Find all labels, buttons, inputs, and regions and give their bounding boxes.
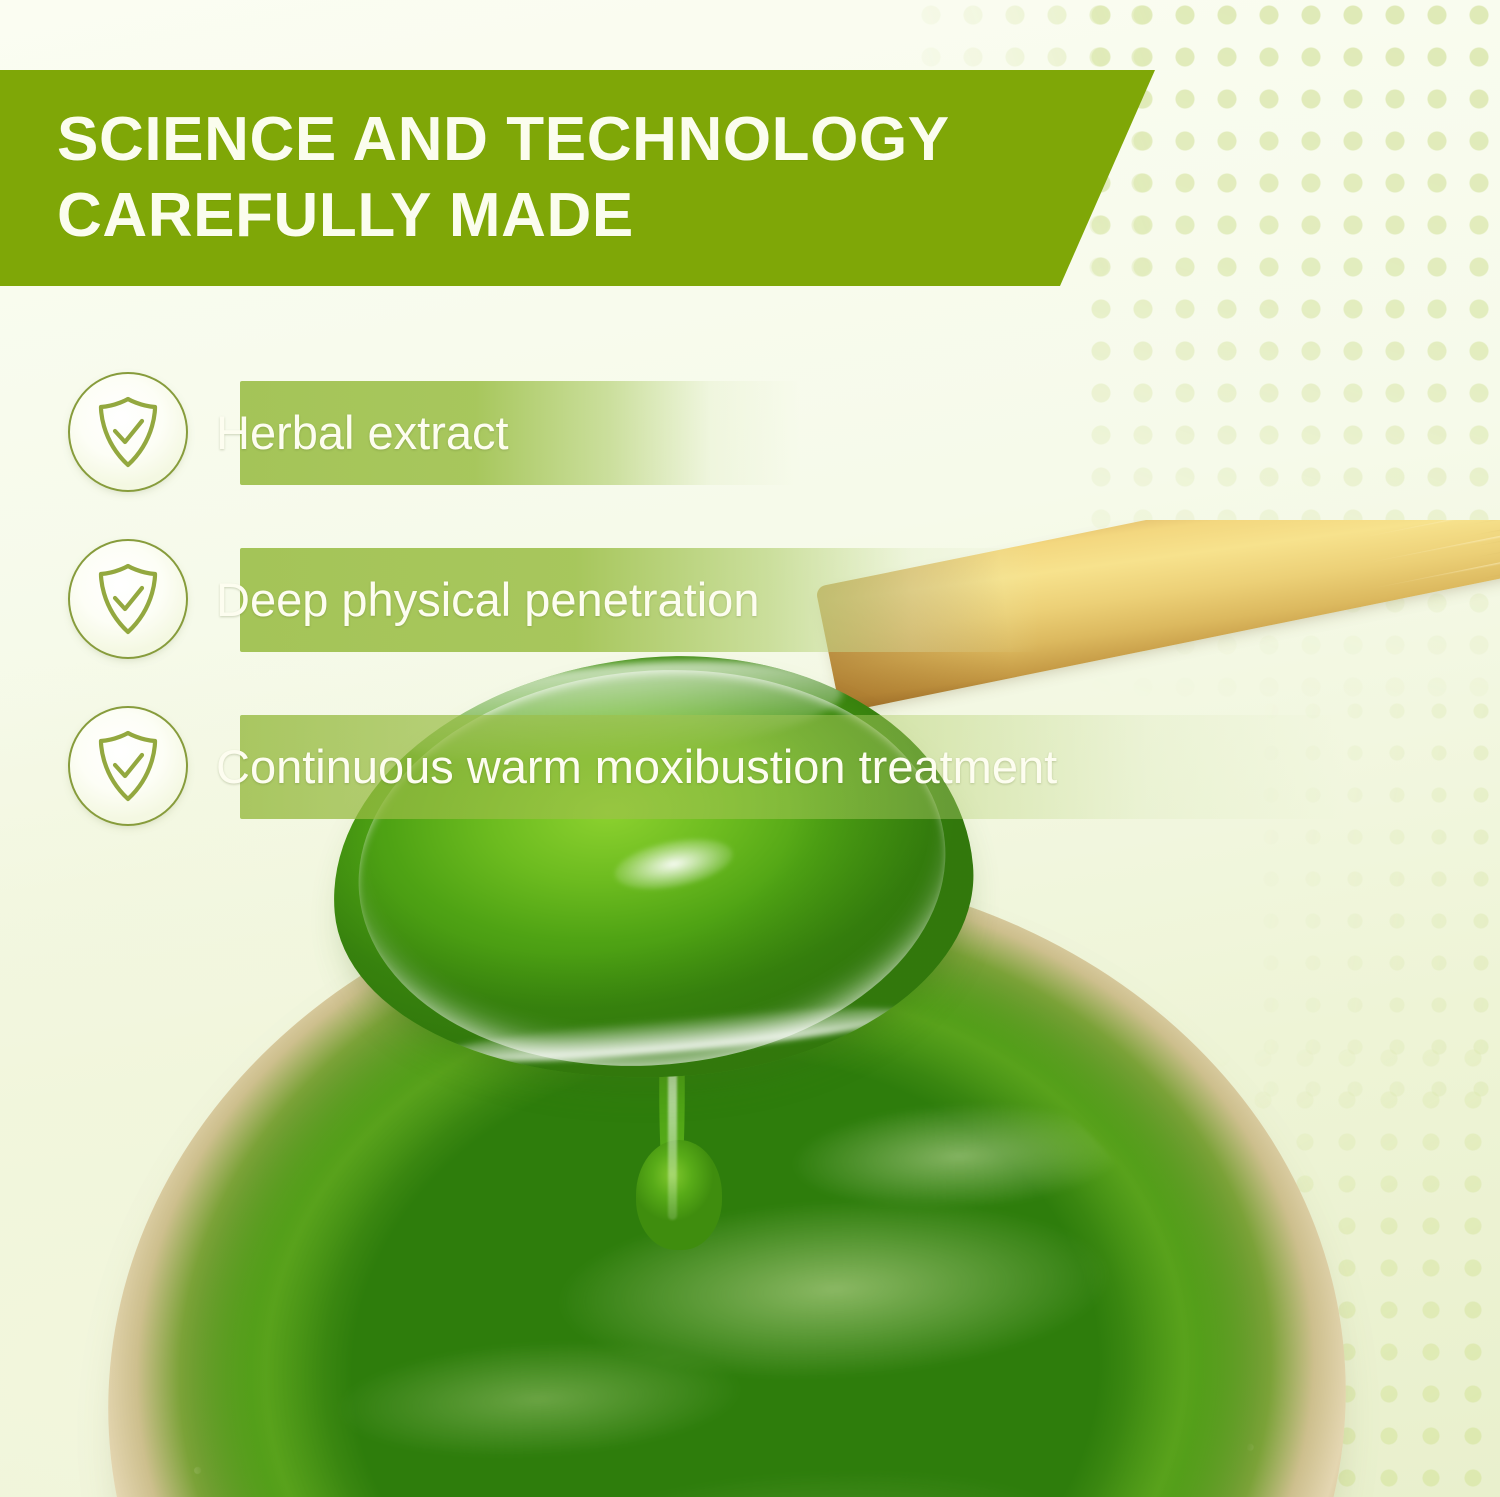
paste-drip-blob — [636, 1140, 722, 1250]
shield-check-icon — [68, 372, 188, 492]
feature-label: Herbal extract — [216, 409, 509, 456]
feature-label: Deep physical penetration — [216, 576, 759, 623]
header-banner: SCIENCE AND TECHNOLOGY CAREFULLY MADE — [0, 70, 1160, 286]
shield-check-icon — [68, 539, 188, 659]
feature-label: Continuous warm moxibustion treatment — [216, 743, 1057, 790]
feature-item-continuous-warm-moxibustion-treatment: Continuous warm moxibustion treatment — [68, 707, 1057, 825]
page-title: SCIENCE AND TECHNOLOGY CAREFULLY MADE — [0, 102, 1040, 253]
product-feature-graphic: SCIENCE AND TECHNOLOGY CAREFULLY MADE He… — [0, 0, 1500, 1497]
feature-item-deep-physical-penetration: Deep physical penetration — [68, 540, 759, 658]
feature-item-herbal-extract: Herbal extract — [68, 373, 509, 491]
shield-check-icon — [68, 706, 188, 826]
product-photo — [0, 520, 1500, 1497]
